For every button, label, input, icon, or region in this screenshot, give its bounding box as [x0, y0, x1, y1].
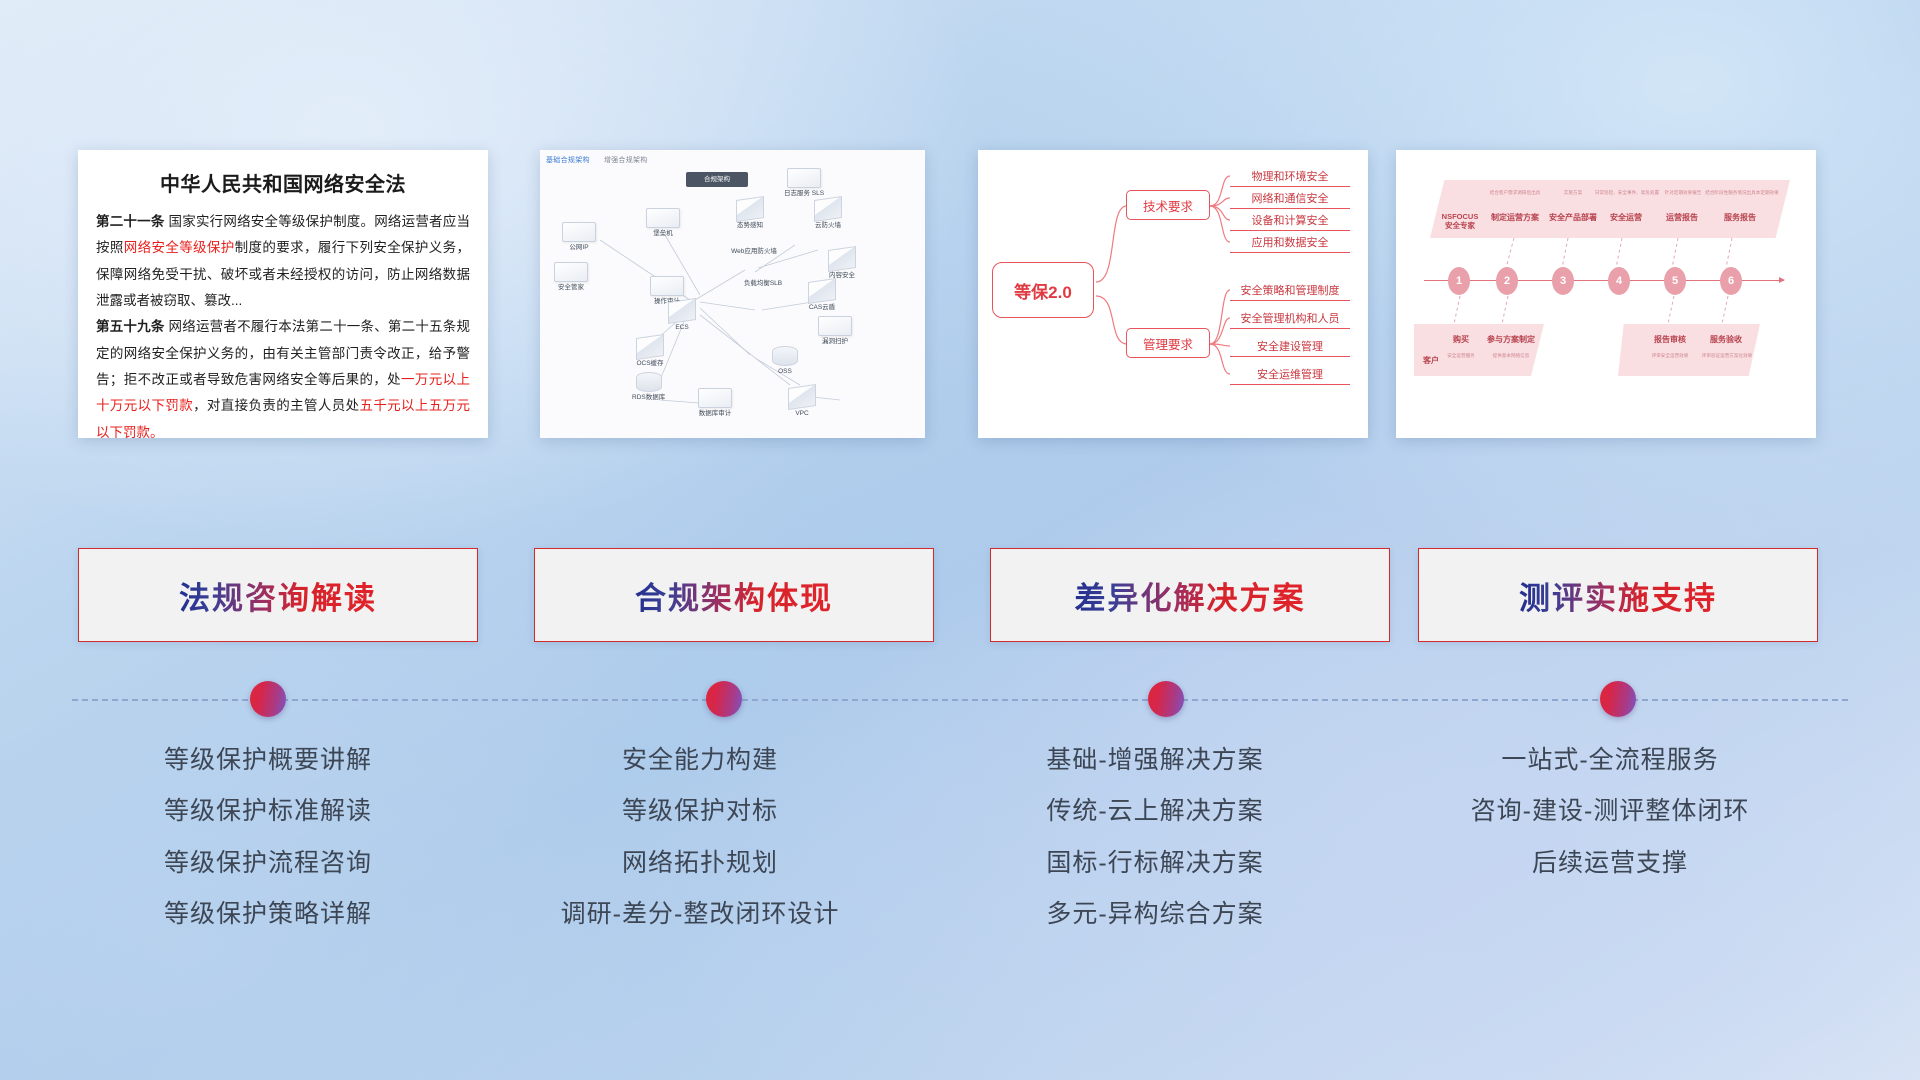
- arch-node-ecs: ECS: [668, 300, 696, 332]
- flow-step-dot-2: 2: [1496, 267, 1518, 295]
- list-item: 调研-差分-整改闭环设计: [500, 889, 900, 940]
- flow-bottom-step-2-title: 参与方案制定: [1480, 334, 1542, 345]
- law-article-21-highlight: 网络安全等级保护: [124, 240, 235, 255]
- list-item: 安全能力构建: [500, 735, 900, 786]
- list-item: 一站式-全流程服务: [1400, 735, 1820, 786]
- flow-band-provider: [1430, 180, 1790, 238]
- list-item: 国标-行标解决方案: [955, 838, 1355, 889]
- arch-node-oss: OSS: [772, 346, 798, 376]
- arch-node-bastion: 堡垒机: [646, 208, 680, 238]
- list-item: 网络拓扑规划: [500, 838, 900, 889]
- list-item: 基础-增强解决方案: [955, 735, 1355, 786]
- mindmap-diagram: 等保2.0 技术要求 管理要求 物理和环境安全 网络和通信安全 设备和计算安全 …: [978, 150, 1368, 438]
- flow-bottom-step-3-title: 报告审核: [1642, 334, 1698, 345]
- detail-list-row: 等级保护概要讲解 等级保护标准解读 等级保护流程咨询 等级保护策略详解 安全能力…: [0, 735, 1920, 965]
- arch-node-cas: CAS云盾: [808, 280, 836, 312]
- node-shape: [788, 384, 816, 410]
- arch-node-vpc: VPC: [788, 386, 816, 418]
- mindmap-leaf-org: 安全管理机构和人员: [1230, 310, 1350, 329]
- arch-node-db-audit: 数据库审计: [698, 388, 732, 418]
- arch-node-slb: 负载均衡SLB: [728, 280, 798, 288]
- arch-node-ocs: OCS缓存: [636, 336, 664, 368]
- category-button-label: 测评实施支持: [1519, 573, 1717, 618]
- arch-node-waf: Web应用防火墙: [718, 248, 790, 256]
- detail-list-2: 安全能力构建 等级保护对标 网络拓扑规划 调研-差分-整改闭环设计: [500, 735, 900, 940]
- flow-band-customer-left: [1414, 324, 1544, 376]
- category-button-compliance-architecture[interactable]: 合规架构体现: [534, 548, 934, 642]
- mindmap-root: 等保2.0: [992, 262, 1094, 318]
- mindmap-branch-technical: 技术要求: [1126, 190, 1210, 220]
- law-article-59-label: 第五十九条: [96, 319, 165, 334]
- architecture-connectors: [540, 150, 925, 438]
- list-item: 等级保护流程咨询: [68, 838, 468, 889]
- mindmap-branch-management: 管理要求: [1126, 328, 1210, 358]
- list-item: 等级保护概要讲解: [68, 735, 468, 786]
- card-cloud-architecture[interactable]: 基础合规架构增强合规架构 合规架构 公网IP 安全管家: [540, 150, 925, 438]
- node-shape: [650, 276, 684, 296]
- timeline: [0, 660, 1920, 740]
- list-item: 传统-云上解决方案: [955, 786, 1355, 837]
- flow-bottom-step-2-sub: 提供基本网络信息: [1478, 353, 1544, 359]
- category-button-label: 合规架构体现: [635, 573, 833, 618]
- node-shape: [772, 346, 798, 366]
- mindmap-leaf-network: 网络和通信安全: [1230, 190, 1350, 209]
- node-shape: [828, 246, 856, 272]
- node-shape: [787, 168, 821, 188]
- flow-step-dot-6: 6: [1720, 267, 1742, 295]
- law-article-21-label: 第二十一条: [96, 214, 165, 229]
- flow-top-step-3-title: 安全运营: [1594, 212, 1658, 223]
- card-law-document[interactable]: 中华人民共和国网络安全法 第二十一条 国家实行网络安全等级保护制度。网络运营者应…: [78, 150, 488, 438]
- list-item: 咨询-建设-测评整体闭环: [1400, 786, 1820, 837]
- timeline-dot-4[interactable]: [1600, 681, 1636, 717]
- mindmap-leaf-application: 应用和数据安全: [1230, 234, 1350, 253]
- law-article-59: 第五十九条 网络运营者不履行本法第二十一条、第二十五条规定的网络安全保护义务的，…: [96, 314, 470, 438]
- detail-list-1: 等级保护概要讲解 等级保护标准解读 等级保护流程咨询 等级保护策略详解: [68, 735, 468, 940]
- list-item: 多元-异构综合方案: [955, 889, 1355, 940]
- detail-list-4: 一站式-全流程服务 咨询-建设-测评整体闭环 后续运营支撑: [1400, 735, 1820, 889]
- node-shape: [808, 278, 836, 304]
- node-shape: [554, 262, 588, 282]
- mindmap-leaf-ops: 安全运维管理: [1230, 366, 1350, 385]
- node-shape: [818, 316, 852, 336]
- list-item: 等级保护策略详解: [68, 889, 468, 940]
- category-button-label: 差异化解决方案: [1075, 573, 1306, 618]
- node-shape: [636, 372, 662, 392]
- flow-band-customer-right: [1618, 324, 1760, 376]
- flow-step-dot-5: 5: [1664, 267, 1686, 295]
- timeline-dot-1[interactable]: [250, 681, 286, 717]
- flow-bottom-step-4-sub: 评审验证运营方案化效果: [1690, 353, 1764, 359]
- node-shape: [814, 196, 842, 222]
- list-item: 等级保护标准解读: [68, 786, 468, 837]
- arch-node-situational-awareness: 态势感知: [736, 198, 764, 230]
- service-flow-diagram: NSFOCUS安全专家 客户 制定运营方案 结合客户需求调研后出具 安全产品部署…: [1396, 150, 1816, 438]
- flow-expert-label: NSFOCUS安全专家: [1436, 212, 1484, 230]
- arch-node-security-butler: 安全管家: [554, 262, 588, 292]
- node-shape: [562, 222, 596, 242]
- mindmap-leaf-build: 安全建设管理: [1230, 338, 1350, 357]
- flow-step-dot-4: 4: [1608, 267, 1630, 295]
- arch-node-public-ip: 公网IP: [562, 222, 596, 252]
- flow-top-step-5-sub: 结合阶段性服务情况出具本定期效果: [1702, 190, 1782, 196]
- detail-list-3: 基础-增强解决方案 传统-云上解决方案 国标-行标解决方案 多元-异构综合方案: [955, 735, 1355, 940]
- arch-node-cloud-firewall: 云防火墙: [814, 198, 842, 230]
- timeline-dashed-line: [72, 699, 1848, 701]
- node-shape: [698, 388, 732, 408]
- arch-node-vuln-scan: 漏洞扫护: [818, 316, 852, 346]
- node-shape: [668, 298, 696, 324]
- card-service-flow[interactable]: NSFOCUS安全专家 客户 制定运营方案 结合客户需求调研后出具 安全产品部署…: [1396, 150, 1816, 438]
- law-title: 中华人民共和国网络安全法: [96, 168, 470, 197]
- timeline-dot-2[interactable]: [706, 681, 742, 717]
- arch-node-content-security: 内容安全: [828, 248, 856, 280]
- category-button-differentiated-solution[interactable]: 差异化解决方案: [990, 548, 1390, 642]
- mindmap-leaf-physical: 物理和环境安全: [1230, 168, 1350, 187]
- node-shape: [646, 208, 680, 228]
- law-article-59-mid: ，对直接负责的主管人员处: [193, 398, 359, 413]
- architecture-diagram: 基础合规架构增强合规架构 合规架构 公网IP 安全管家: [540, 150, 925, 438]
- category-button-label: 法规咨询解读: [179, 573, 377, 618]
- flow-top-step-5-title: 服务报告: [1708, 212, 1772, 223]
- slide-canvas: 中华人民共和国网络安全法 第二十一条 国家实行网络安全等级保护制度。网络运营者应…: [0, 0, 1920, 1080]
- flow-bottom-step-4-title: 服务验收: [1698, 334, 1754, 345]
- flow-step-dot-3: 3: [1552, 267, 1574, 295]
- flow-step-dot-1: 1: [1448, 267, 1470, 295]
- flow-bottom-step-1-title: 购买: [1440, 334, 1482, 345]
- list-item: 等级保护对标: [500, 786, 900, 837]
- mindmap-leaf-policy: 安全策略和管理制度: [1230, 282, 1350, 301]
- law-article-21: 第二十一条 国家实行网络安全等级保护制度。网络运营者应当按照网络安全等级保护制度…: [96, 209, 470, 314]
- flow-top-step-4-title: 运营报告: [1650, 212, 1714, 223]
- node-shape: [736, 196, 764, 222]
- mindmap-leaf-device: 设备和计算安全: [1230, 212, 1350, 231]
- list-item: 后续运营支撑: [1400, 838, 1820, 889]
- category-button-row: 法规咨询解读 合规架构体现 差异化解决方案 测评实施支持: [0, 548, 1920, 646]
- arch-node-rds: RDS数据库: [632, 372, 665, 402]
- card-mindmap[interactable]: 等保2.0 技术要求 管理要求 物理和环境安全 网络和通信安全 设备和计算安全 …: [978, 150, 1368, 438]
- arch-node-log-service: 日志服务 SLS: [784, 168, 824, 198]
- timeline-dot-3[interactable]: [1148, 681, 1184, 717]
- flow-top-step-1-sub: 结合客户需求调研后出具: [1480, 190, 1550, 196]
- node-shape: [636, 334, 664, 360]
- category-button-regulation-consulting[interactable]: 法规咨询解读: [78, 548, 478, 642]
- thumbnail-row: 中华人民共和国网络安全法 第二十一条 国家实行网络安全等级保护制度。网络运营者应…: [0, 150, 1920, 440]
- category-button-evaluation-support[interactable]: 测评实施支持: [1418, 548, 1818, 642]
